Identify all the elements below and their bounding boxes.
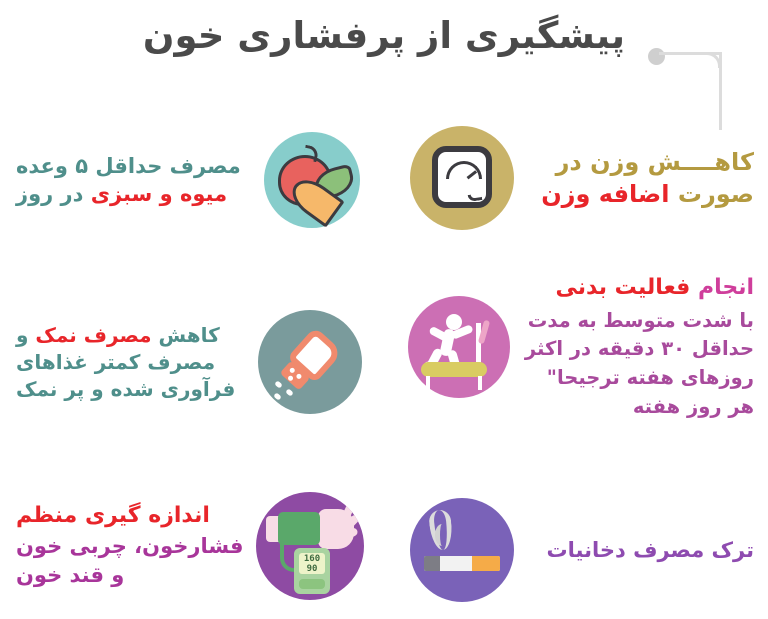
treadmill-deck-shape	[421, 362, 487, 377]
cigarette-ash-shape	[424, 556, 440, 571]
treadmill-runner-icon	[408, 296, 510, 398]
bp-buttons-shape	[299, 579, 325, 589]
tip-card-reduce-salt: کاهش مصرف نمک و مصرف کمتر غذاهای فرآوری …	[8, 310, 368, 414]
bp-display: 160 90	[299, 553, 325, 574]
tip-text-fruit-vegetables: مصرف حداقل ۵ وعده میوه و سبزی در روز	[8, 152, 264, 209]
tip-line-1: با شدت متوسط به مدت	[510, 307, 754, 336]
tip-line-1: ترک مصرف دخانیات	[514, 536, 754, 564]
salt-grain-shape	[285, 388, 294, 396]
tip-text-regular-measurement: اندازه گیری منظم فشارخون، چربی خون و قند…	[8, 501, 256, 591]
tip-text-weight-loss: کاهــــش وزن در صورت اضافه وزن	[514, 146, 760, 211]
tip-card-weight-loss: کاهــــش وزن در صورت اضافه وزن	[400, 126, 760, 230]
tip-card-regular-measurement: 160 90 اندازه گیری منظم فشارخون، چربی خو…	[8, 492, 368, 600]
scale-dial-shape	[446, 161, 482, 179]
treadmill-leg-shape	[426, 376, 430, 390]
smoke-swirl-shape	[435, 524, 449, 546]
tip-text-quit-smoking: ترک مصرف دخانیات	[514, 536, 760, 564]
treadmill-leg-shape	[478, 376, 482, 390]
cigarette-icon	[410, 498, 514, 602]
scale-body-shape	[432, 146, 492, 208]
tip-line-2: میوه و سبزی در روز	[16, 180, 264, 208]
tip-card-fruit-vegetables: مصرف حداقل ۵ وعده میوه و سبزی در روز	[8, 132, 368, 228]
bathroom-scale-icon	[410, 126, 514, 230]
tip-card-physical-activity: انجام فعالیت بدنی با شدت متوسط به مدت حد…	[400, 272, 760, 422]
connector-dot-icon	[648, 48, 665, 65]
tip-heading: انجام فعالیت بدنی	[510, 272, 754, 305]
scale-foot-shape	[468, 193, 483, 202]
tip-text-reduce-salt: کاهش مصرف نمک و مصرف کمتر غذاهای فرآوری …	[8, 322, 258, 403]
tip-line-1-rest: کاهش	[152, 323, 220, 347]
cigarette-filter-shape	[472, 556, 500, 571]
connector-line-vertical	[719, 52, 722, 130]
page-title: پیشگیری از پرفشاری خون	[120, 14, 648, 57]
tip-line-2-rest: صورت	[669, 180, 754, 208]
salt-grain-shape	[273, 392, 282, 400]
tip-card-quit-smoking: ترک مصرف دخانیات	[400, 498, 760, 602]
tip-line-2: و قند خون	[16, 561, 256, 590]
scale-needle-shape	[467, 170, 477, 179]
tip-line-1: مصرف حداقل ۵ وعده	[16, 152, 264, 180]
tip-line-4: هر روز هفته	[510, 393, 754, 422]
tip-line-3: روزهای هفته ترجیحا"	[510, 364, 754, 393]
tip-heading-first: انجام	[690, 275, 754, 300]
tip-heading-highlight: فعالیت بدنی	[556, 275, 691, 300]
salt-grain-shape	[274, 380, 283, 388]
bp-monitor-shape: 160 90	[294, 548, 330, 594]
tip-line-1: کاهش مصرف نمک و	[16, 322, 258, 349]
salt-shaker-icon	[258, 310, 362, 414]
tip-line-2: صورت اضافه وزن	[514, 178, 754, 210]
tip-line-1: فشارخون، چربی خون	[16, 532, 256, 561]
tip-line-1-tail: و	[16, 323, 35, 347]
apple-carrot-icon	[264, 132, 360, 228]
bp-cuff-shape	[278, 512, 320, 545]
tip-line-2: حداقل ۳۰ دقیقه در اکثر	[510, 335, 754, 364]
tip-line-1: کاهــــش وزن در	[514, 146, 754, 178]
treadmill-post-shape	[476, 323, 481, 365]
tip-highlight: میوه و سبزی	[91, 182, 227, 206]
tip-heading: اندازه گیری منظم	[16, 501, 256, 532]
bp-diastolic-value: 90	[307, 564, 318, 574]
blood-pressure-monitor-icon: 160 90	[256, 492, 364, 600]
tip-line-2: مصرف کمتر غذاهای	[16, 349, 258, 376]
tip-text-physical-activity: انجام فعالیت بدنی با شدت متوسط به مدت حد…	[510, 272, 760, 422]
tip-highlight: مصرف نمک	[35, 323, 151, 347]
tip-line-3: فرآوری شده و پر نمک	[16, 376, 258, 403]
tip-highlight: اضافه وزن	[541, 180, 669, 208]
bp-systolic-value: 160	[304, 554, 320, 564]
tip-line-2-rest: در روز	[16, 182, 91, 206]
